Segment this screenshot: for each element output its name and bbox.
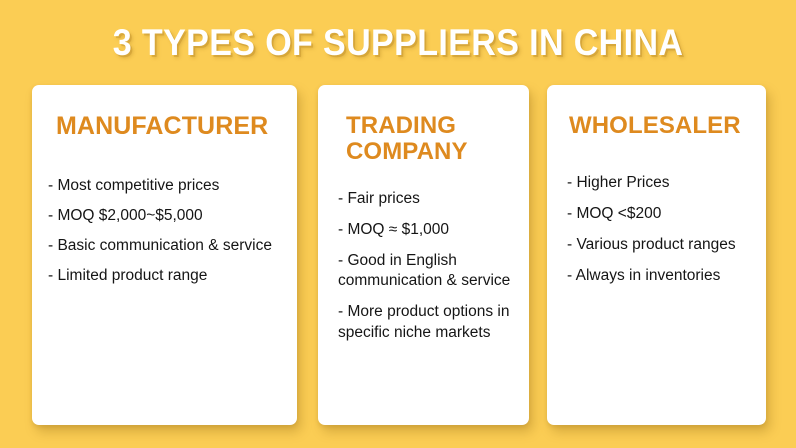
card-heading-trading-company: TRADING COMPANY <box>318 113 529 165</box>
list-item: - Basic communication & service <box>48 236 283 256</box>
list-item: - MOQ ≈ $1,000 <box>338 220 517 240</box>
card-bullets-trading-company: - Fair prices - MOQ ≈ $1,000 - Good in E… <box>318 189 529 343</box>
list-item: - Limited product range <box>48 266 283 286</box>
card-heading-line-1: TRADING <box>346 112 456 139</box>
card-heading-line-2: COMPANY <box>346 138 468 165</box>
list-item: - More product options in specific niche… <box>338 302 517 342</box>
list-item: - Always in inventories <box>567 266 754 286</box>
list-item: - Most competitive prices <box>48 176 283 196</box>
list-item: - Good in English communication & servic… <box>338 251 517 291</box>
list-item: - Various product ranges <box>567 235 754 255</box>
list-item: - Higher Prices <box>567 173 754 193</box>
card-bullets-wholesaler: - Higher Prices - MOQ <$200 - Various pr… <box>547 173 766 287</box>
slide-title-bar: 3 TYPES OF SUPPLIERS IN CHINA <box>0 0 796 85</box>
supplier-card-trading-company: TRADING COMPANY - Fair prices - MOQ ≈ $1… <box>318 85 529 425</box>
list-item: - MOQ <$200 <box>567 204 754 224</box>
list-item: - Fair prices <box>338 189 517 209</box>
card-bullets-manufacturer: - Most competitive prices - MOQ $2,000~$… <box>32 176 297 287</box>
supplier-card-wholesaler: WHOLESALER - Higher Prices - MOQ <$200 -… <box>547 85 766 425</box>
card-heading-manufacturer: MANUFACTURER <box>32 113 297 140</box>
supplier-card-manufacturer: MANUFACTURER - Most competitive prices -… <box>32 85 297 425</box>
supplier-cards-row: MANUFACTURER - Most competitive prices -… <box>0 85 796 426</box>
list-item: - MOQ $2,000~$5,000 <box>48 206 283 226</box>
page-title: 3 TYPES OF SUPPLIERS IN CHINA <box>113 22 684 64</box>
card-heading-wholesaler: WHOLESALER <box>547 113 766 139</box>
